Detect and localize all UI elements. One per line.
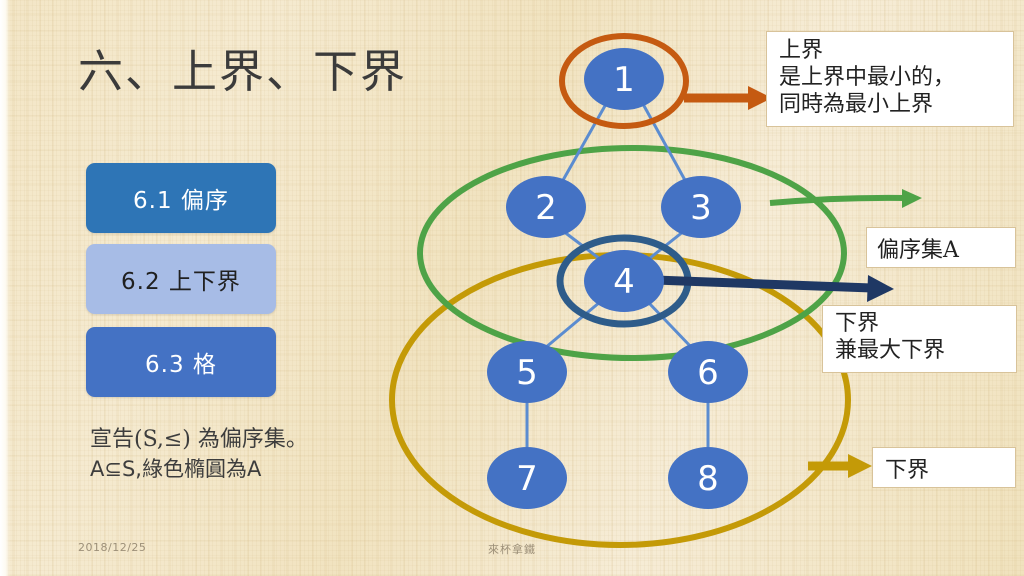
sidebar-item-6-3[interactable]: 6.3 格 (86, 327, 276, 397)
caption-block: 宣告(S,≤) 為偏序集。 A⊆S,綠色橢圓為A (90, 425, 390, 484)
lower-bound-arrowhead (848, 454, 872, 478)
node-6[interactable]: 6 (668, 341, 748, 403)
node-8[interactable]: 8 (668, 447, 748, 509)
node-8-label: 8 (697, 459, 719, 499)
node-4-label: 4 (613, 262, 635, 302)
node-1[interactable]: 1 (584, 48, 664, 110)
poset-a-arrowhead (902, 189, 922, 208)
arrow-group (655, 86, 922, 478)
node-5[interactable]: 5 (487, 341, 567, 403)
node-6-label: 6 (697, 353, 719, 393)
callout-lower-bound-line-1: 下界 (885, 452, 1015, 484)
footer-center-text: 來杯拿鐵 (0, 541, 1024, 557)
callout-upper-bound-line-2: 是上界中最小的， (779, 65, 1003, 92)
callout-lower-bound: 下界 (872, 447, 1016, 488)
node-2-label: 2 (535, 188, 557, 228)
sidebar-item-6-2[interactable]: 6.2 上下界 (86, 244, 276, 314)
node-3-label: 3 (690, 188, 712, 228)
poset-a-arrow (770, 198, 906, 203)
callout-poset-a-line-1: 偏序集A (877, 232, 1015, 264)
caption-line-2: A⊆S,綠色橢圓為A (90, 455, 390, 484)
callout-upper-bound-line-3: 同時為最小上界 (779, 92, 1003, 119)
caption-line-1: 宣告(S,≤) 為偏序集。 (90, 425, 390, 455)
node-7[interactable]: 7 (487, 447, 567, 509)
sidebar-item-6-1-label: 6.1 偏序 (133, 181, 229, 215)
node-3[interactable]: 3 (661, 176, 741, 238)
node-5-label: 5 (516, 353, 538, 393)
node-1-label: 1 (613, 60, 635, 100)
callout-lower-bound-glb-line-2: 兼最大下界 (835, 338, 1016, 365)
node-2[interactable]: 2 (506, 176, 586, 238)
sidebar-item-6-2-label: 6.2 上下界 (121, 262, 241, 296)
page-title: 六、上界、下界 (78, 48, 407, 95)
callout-poset-a: 偏序集A (866, 227, 1016, 268)
sidebar-item-6-3-label: 6.3 格 (145, 345, 217, 379)
node-7-label: 7 (516, 459, 538, 499)
sidebar-item-6-1[interactable]: 6.1 偏序 (86, 163, 276, 233)
callout-lower-bound-glb: 下界 兼最大下界 (822, 305, 1017, 373)
callout-upper-bound: 上界 是上界中最小的， 同時為最小上界 (766, 31, 1014, 127)
callout-lower-bound-glb-line-1: 下界 (835, 311, 1016, 338)
glb-arrowhead (867, 275, 894, 302)
slide-canvas: 1 2 3 4 5 6 7 (0, 0, 1024, 576)
node-4[interactable]: 4 (584, 250, 664, 312)
callout-upper-bound-line-1: 上界 (779, 38, 1003, 65)
